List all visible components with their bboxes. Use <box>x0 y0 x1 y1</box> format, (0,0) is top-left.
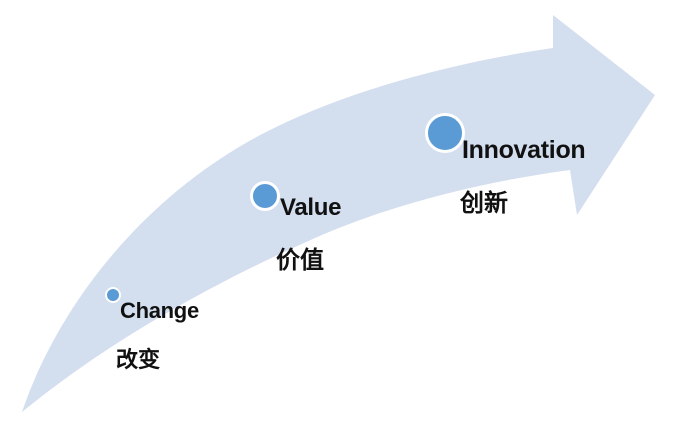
milestone-label-value-cn: 价值 <box>276 248 324 272</box>
milestone-label-value-en: Value <box>280 196 341 220</box>
milestone-label-innovation-en: Innovation <box>462 138 585 163</box>
milestone-dot-innovation <box>425 113 465 153</box>
diagram-canvas: Change 改变 Value 价值 Innovation 创新 <box>0 0 675 434</box>
milestone-dot-change <box>105 287 121 303</box>
milestone-dot-value <box>250 181 280 211</box>
milestone-label-change-en: Change <box>120 300 199 322</box>
milestone-label-change-cn: 改变 <box>116 350 160 372</box>
milestone-label-innovation-cn: 创新 <box>460 191 508 215</box>
